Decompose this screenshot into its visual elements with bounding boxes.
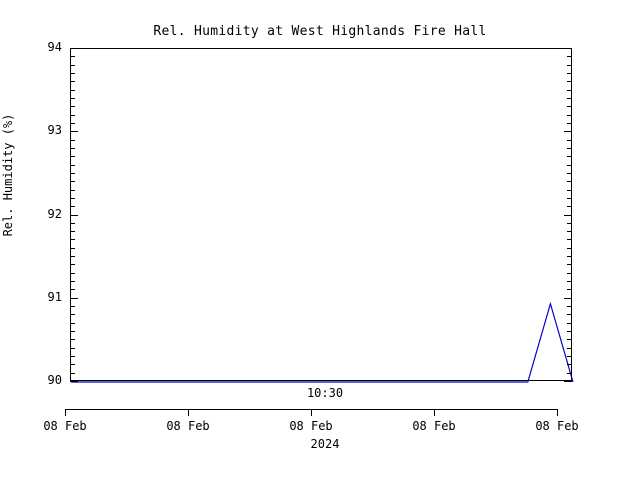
y-tick-minor [70, 373, 75, 374]
x-tick [557, 409, 558, 416]
y-tick-minor-right [567, 65, 572, 66]
y-tick-minor-right [567, 56, 572, 57]
y-tick-minor [70, 331, 75, 332]
y-tick-minor [70, 123, 75, 124]
y-tick-minor-right [567, 248, 572, 249]
y-tick-minor [70, 165, 75, 166]
y-tick-label: 94 [2, 40, 62, 54]
y-tick-minor [70, 248, 75, 249]
y-tick-minor-right [567, 198, 572, 199]
y-tick-minor [70, 190, 75, 191]
y-tick-minor [70, 73, 75, 74]
y-tick-minor-right [567, 348, 572, 349]
y-tick-minor [70, 323, 75, 324]
x-tick [188, 409, 189, 416]
y-tick-minor [70, 181, 75, 182]
chart-page: Rel. Humidity at West Highlands Fire Hal… [0, 0, 640, 480]
y-tick-minor-right [567, 306, 572, 307]
x-tick-label: 08 Feb [5, 419, 125, 433]
y-tick-minor-right [567, 140, 572, 141]
y-tick-minor-right [567, 289, 572, 290]
y-tick-minor-right [567, 331, 572, 332]
y-tick-minor-right [567, 90, 572, 91]
y-tick-minor [70, 256, 75, 257]
y-tick-label: 93 [2, 123, 62, 137]
y-tick-label: 92 [2, 207, 62, 221]
y-tick-minor [70, 206, 75, 207]
y-tick-minor [70, 273, 75, 274]
x-tick-label: 08 Feb [497, 419, 617, 433]
y-tick-minor [70, 198, 75, 199]
y-tick-major [70, 131, 78, 132]
y-tick-major [70, 215, 78, 216]
y-tick-minor-right [567, 273, 572, 274]
y-tick-minor-right [567, 323, 572, 324]
y-tick-minor-right [567, 190, 572, 191]
y-tick-minor-right [567, 73, 572, 74]
y-tick-minor [70, 281, 75, 282]
y-tick-minor-right [567, 231, 572, 232]
y-tick-minor [70, 148, 75, 149]
y-tick-minor [70, 140, 75, 141]
y-tick-minor-right [567, 256, 572, 257]
y-tick-minor [70, 115, 75, 116]
y-axis-label: Rel. Humidity (%) [1, 0, 15, 375]
y-tick-minor-right [567, 239, 572, 240]
y-tick-minor [70, 173, 75, 174]
y-tick-minor [70, 356, 75, 357]
x-tick [311, 409, 312, 416]
y-tick-major [70, 298, 78, 299]
y-tick-major-right [564, 215, 572, 216]
y-tick-minor-right [567, 373, 572, 374]
y-tick-minor [70, 314, 75, 315]
y-tick-major-right [564, 131, 572, 132]
y-tick-minor [70, 306, 75, 307]
y-tick-minor-right [567, 156, 572, 157]
y-tick-major [70, 381, 78, 382]
y-tick-minor-right [567, 264, 572, 265]
y-tick-minor-right [567, 98, 572, 99]
y-tick-minor-right [567, 81, 572, 82]
y-tick-minor-right [567, 314, 572, 315]
y-tick-minor-right [567, 339, 572, 340]
y-tick-major [70, 48, 78, 49]
data-series-line [71, 49, 573, 382]
y-tick-minor [70, 90, 75, 91]
y-tick-minor-right [567, 364, 572, 365]
plot-area [71, 49, 571, 380]
y-tick-minor [70, 289, 75, 290]
x-tick [65, 409, 66, 416]
y-tick-minor [70, 106, 75, 107]
y-tick-minor [70, 264, 75, 265]
y-tick-minor [70, 56, 75, 57]
y-tick-minor-right [567, 106, 572, 107]
y-tick-minor [70, 156, 75, 157]
x-axis-time-annotation: 10:30 [265, 386, 385, 400]
y-tick-minor [70, 348, 75, 349]
y-tick-minor-right [567, 206, 572, 207]
y-tick-label: 90 [2, 373, 62, 387]
y-tick-minor [70, 339, 75, 340]
x-axis-year-label: 2024 [265, 437, 385, 451]
y-tick-minor-right [567, 148, 572, 149]
y-tick-minor-right [567, 115, 572, 116]
y-tick-minor [70, 81, 75, 82]
y-tick-minor [70, 231, 75, 232]
y-tick-minor [70, 223, 75, 224]
y-tick-label: 91 [2, 290, 62, 304]
y-tick-major-right [564, 381, 572, 382]
y-tick-minor-right [567, 173, 572, 174]
y-tick-minor-right [567, 281, 572, 282]
y-tick-minor-right [567, 123, 572, 124]
plot-frame [70, 48, 572, 381]
x-tick-label: 08 Feb [251, 419, 371, 433]
y-tick-minor-right [567, 165, 572, 166]
x-tick [434, 409, 435, 416]
x-tick-label: 08 Feb [374, 419, 494, 433]
y-tick-major-right [564, 298, 572, 299]
y-tick-minor-right [567, 223, 572, 224]
y-tick-minor-right [567, 356, 572, 357]
y-tick-major-right [564, 48, 572, 49]
y-tick-minor [70, 65, 75, 66]
x-tick-label: 08 Feb [128, 419, 248, 433]
y-tick-minor-right [567, 181, 572, 182]
page-title: Rel. Humidity at West Highlands Fire Hal… [0, 24, 640, 39]
y-tick-minor [70, 364, 75, 365]
y-tick-minor [70, 98, 75, 99]
y-tick-minor [70, 239, 75, 240]
